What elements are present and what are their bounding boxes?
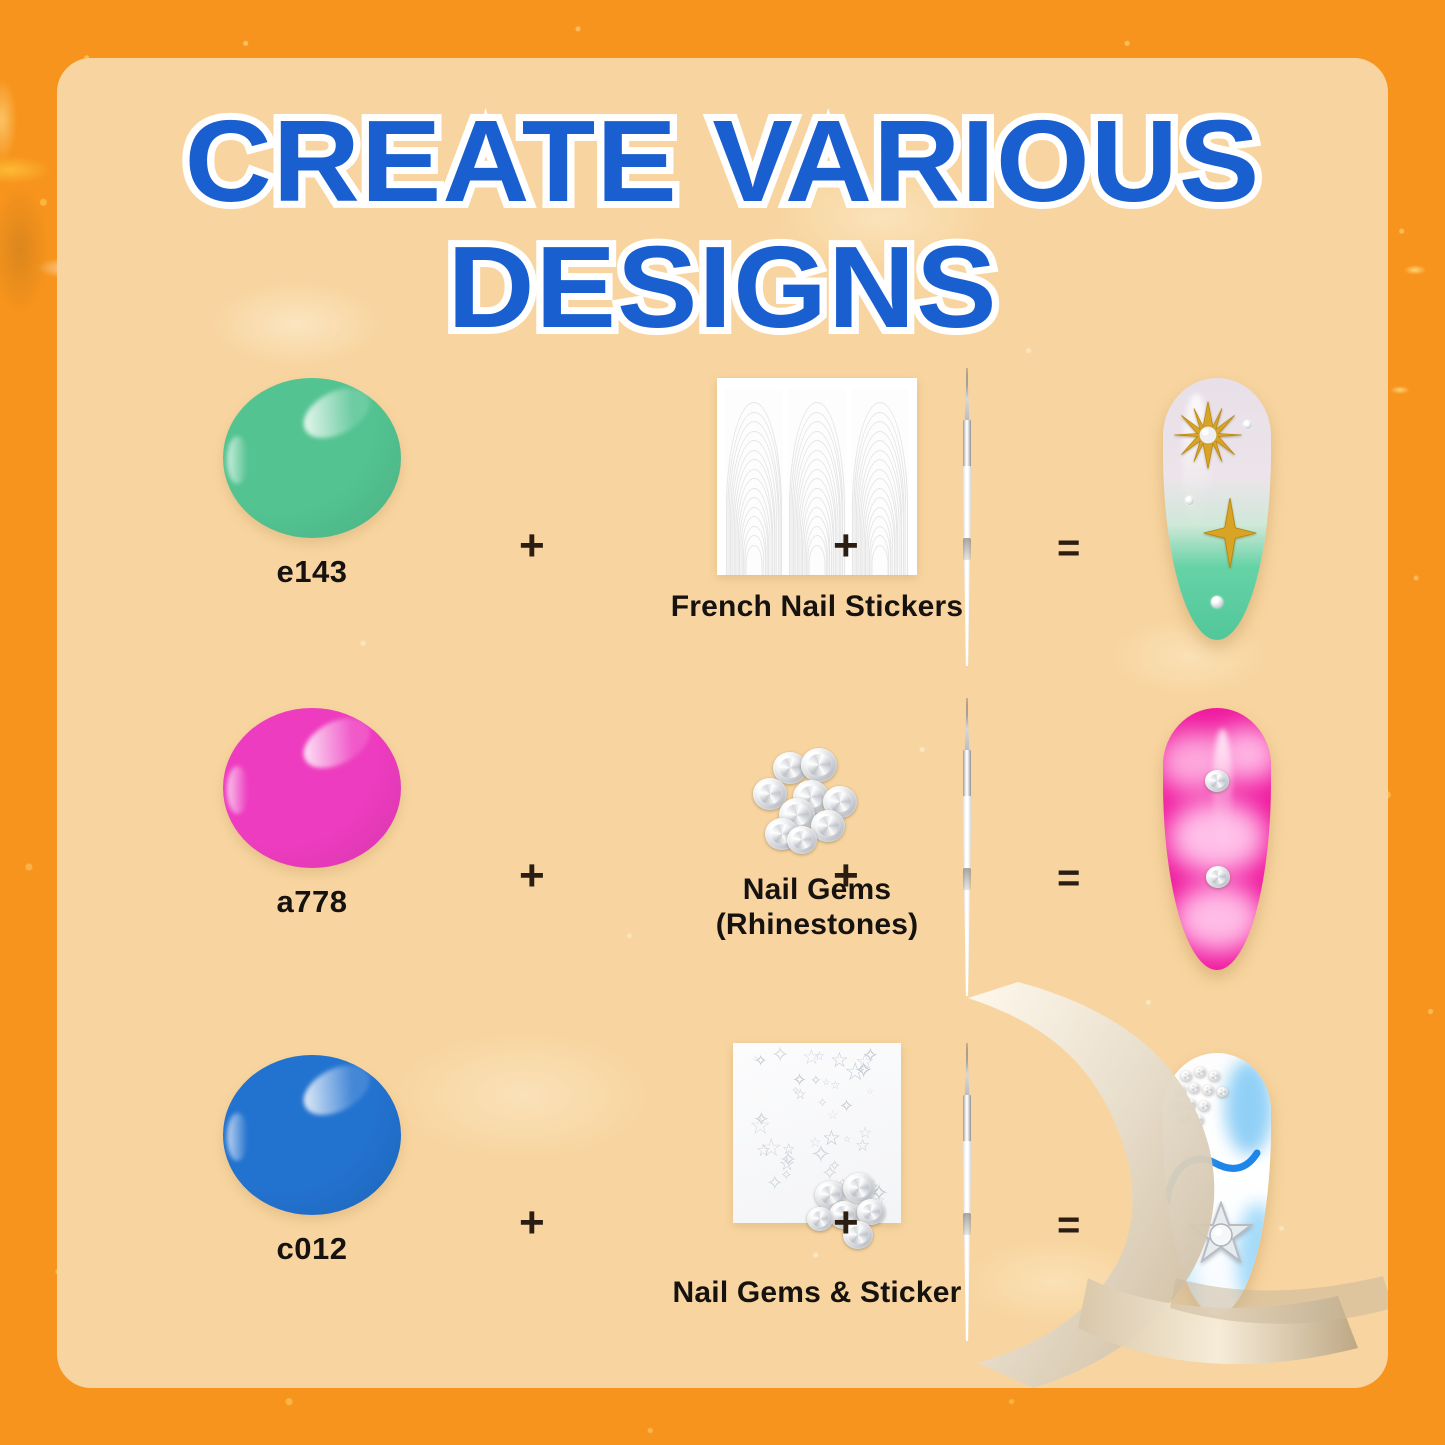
liner-brush-cell-1[interactable]: [937, 368, 997, 668]
design-row-1: e143 + French Nail Stickers +: [57, 378, 1388, 678]
liner-brush-cell-2[interactable]: [937, 698, 997, 998]
star-sticker-glyph: ☆: [843, 1135, 851, 1144]
accent-gem: [1243, 420, 1252, 429]
nail-rhinestone: [1193, 1115, 1204, 1125]
brush-logo-mark: [963, 868, 971, 890]
outer-orange-frame: CREATE VARIOUS DESIGNS e143 + French Nai…: [0, 0, 1445, 1445]
blue-wave-line-icon: [1163, 1105, 1271, 1215]
nail-rhinestone: [1205, 770, 1229, 792]
french-sticker-arc: [746, 545, 763, 576]
star-sticker-glyph: ☆: [827, 1108, 839, 1121]
nail-rhinestone: [1181, 1071, 1192, 1081]
nail-rhinestone: [1203, 1085, 1214, 1095]
title-line-2: DESIGNS: [57, 228, 1388, 346]
brush-tip: [965, 368, 970, 424]
plus-operator-3b: +: [833, 1201, 859, 1245]
accessory-cell-2[interactable]: Nail Gems (Rhinestones): [537, 738, 1097, 943]
nail-gloss-highlight: [1195, 1063, 1217, 1194]
polish-drop-swatch-a778[interactable]: [223, 708, 401, 868]
design-row-2: a778 + Nail Gems (Rhinestones) + =: [57, 708, 1388, 1008]
nail-rhinestone: [1189, 1083, 1200, 1093]
star-sticker-glyph: ☆: [756, 1142, 771, 1159]
polish-code-label-2: a778: [187, 884, 437, 920]
accessory-label-1: French Nail Stickers: [537, 589, 1097, 624]
brush-ferrule: [963, 420, 971, 468]
rhinestone: [801, 748, 837, 782]
silver-star-charm-icon: [1189, 1201, 1253, 1263]
rhinestone: [807, 1207, 833, 1231]
equals-operator-3: =: [1057, 1205, 1080, 1245]
nail-rhinestone: [1217, 1087, 1228, 1097]
result-nail-cell-1[interactable]: [1117, 378, 1317, 640]
star-sticker-glyph: ☆: [858, 1126, 872, 1142]
accessory-cell-3[interactable]: ☆☆✧☆☆☆✧☆☆✧☆✧☆☆☆✧✧✧✧☆✧☆✧☆✧✧☆☆☆✧✧☆✧☆☆✧☆✧✧☆…: [537, 1043, 1097, 1310]
french-sticker-arc: [871, 545, 888, 576]
brush-handle: [963, 466, 972, 666]
star-sticker-glyph: ✧: [839, 1097, 854, 1115]
star-sticker-glyph: ✧: [766, 1173, 784, 1194]
finished-nail-pink-aura[interactable]: [1163, 708, 1271, 970]
brush-logo-mark: [963, 1213, 971, 1235]
french-sticker-column: [851, 389, 909, 575]
star-sticker-glyph: ☆: [802, 1047, 821, 1068]
plus-operator-2b: +: [833, 854, 859, 898]
liner-brush-icon[interactable]: [956, 1043, 978, 1343]
polish-code-label-3: c012: [187, 1231, 437, 1267]
aura-blob: [1173, 884, 1263, 952]
nail-rhinestone: [1195, 1067, 1206, 1077]
polish-swatch-cell-1[interactable]: e143: [187, 378, 437, 590]
page-title: CREATE VARIOUS DESIGNS: [57, 102, 1388, 347]
content-card: CREATE VARIOUS DESIGNS e143 + French Nai…: [57, 58, 1388, 1388]
polish-code-label-1: e143: [187, 554, 437, 590]
gold-eight-point-star-icon: [1173, 400, 1243, 470]
rhinestone-cluster-icon[interactable]: [727, 738, 907, 858]
nail-rhinestone: [1199, 1101, 1210, 1111]
brush-ferrule: [963, 750, 971, 798]
finished-nail-blue-wave[interactable]: [1163, 1053, 1271, 1315]
nail-rhinestone: [1185, 1099, 1196, 1109]
star-sticker-glyph: ✧: [810, 1073, 822, 1087]
brush-logo-mark: [963, 538, 971, 560]
brush-tip: [965, 698, 970, 754]
gold-four-point-sparkle-icon: [1203, 498, 1257, 568]
brush-handle: [963, 1141, 972, 1341]
liner-brush-cell-3[interactable]: [937, 1043, 997, 1343]
star-sticker-glyph: ✧: [828, 1159, 841, 1175]
nail-rhinestone: [1175, 1085, 1186, 1095]
plus-operator-1b: +: [833, 524, 859, 568]
accessory-label-3: Nail Gems & Sticker: [537, 1275, 1097, 1310]
polish-drop-swatch-c012[interactable]: [223, 1055, 401, 1215]
star-sticker-glyph: ☆: [822, 1078, 830, 1087]
liner-brush-icon[interactable]: [956, 698, 978, 998]
accent-gem: [1185, 496, 1194, 505]
nail-rhinestone: [1206, 866, 1230, 888]
finished-nail-mint-gradient[interactable]: [1163, 378, 1271, 640]
rhinestone: [787, 826, 817, 854]
accent-gem: [1211, 596, 1223, 608]
nail-rhinestone: [1209, 1071, 1220, 1081]
star-sticker-glyph: ✧: [752, 1055, 760, 1064]
liner-brush-icon[interactable]: [956, 368, 978, 668]
accessory-label-2-line2: (Rhinestones): [537, 907, 1097, 942]
brush-tip: [965, 1043, 970, 1099]
polish-swatch-cell-2[interactable]: a778: [187, 708, 437, 920]
star-sticker-glyph: ☆: [866, 1087, 874, 1096]
accessory-cell-1[interactable]: French Nail Stickers: [537, 378, 1097, 624]
title-line-1: CREATE VARIOUS: [57, 102, 1388, 220]
star-sticker-sheet-with-gems-icon[interactable]: ☆☆✧☆☆☆✧☆☆✧☆✧☆☆☆✧✧✧✧☆✧☆✧☆✧✧☆☆☆✧✧☆✧☆☆✧☆✧✧☆…: [733, 1043, 901, 1223]
nail-rhinestone: [1171, 1099, 1182, 1109]
brush-handle: [963, 796, 972, 996]
result-nail-cell-2[interactable]: [1117, 708, 1317, 970]
design-row-3: c012 + ☆☆✧☆☆☆✧☆☆✧☆✧☆☆☆✧✧✧✧☆✧☆✧☆✧✧☆☆☆✧✧☆✧…: [57, 1033, 1388, 1333]
star-sticker-glyph: ☆: [830, 1079, 841, 1091]
polish-drop-swatch-e143[interactable]: [223, 378, 401, 538]
result-nail-cell-3[interactable]: [1117, 1053, 1317, 1315]
equals-operator-1: =: [1057, 528, 1080, 568]
equals-operator-2: =: [1057, 858, 1080, 898]
polish-swatch-cell-3[interactable]: c012: [187, 1055, 437, 1267]
nail-rhinestone: [1179, 1113, 1190, 1123]
french-sticker-arc: [808, 545, 825, 576]
brush-ferrule: [963, 1095, 971, 1143]
french-sticker-column: [725, 389, 783, 575]
star-sticker-glyph: ✧: [791, 1086, 800, 1097]
star-sticker-glyph: ✧: [771, 1044, 789, 1066]
star-sticker-glyph: ✧: [862, 1046, 879, 1066]
accessory-label-2-line1: Nail Gems: [537, 872, 1097, 907]
french-sticker-sheet-icon[interactable]: [717, 378, 917, 575]
